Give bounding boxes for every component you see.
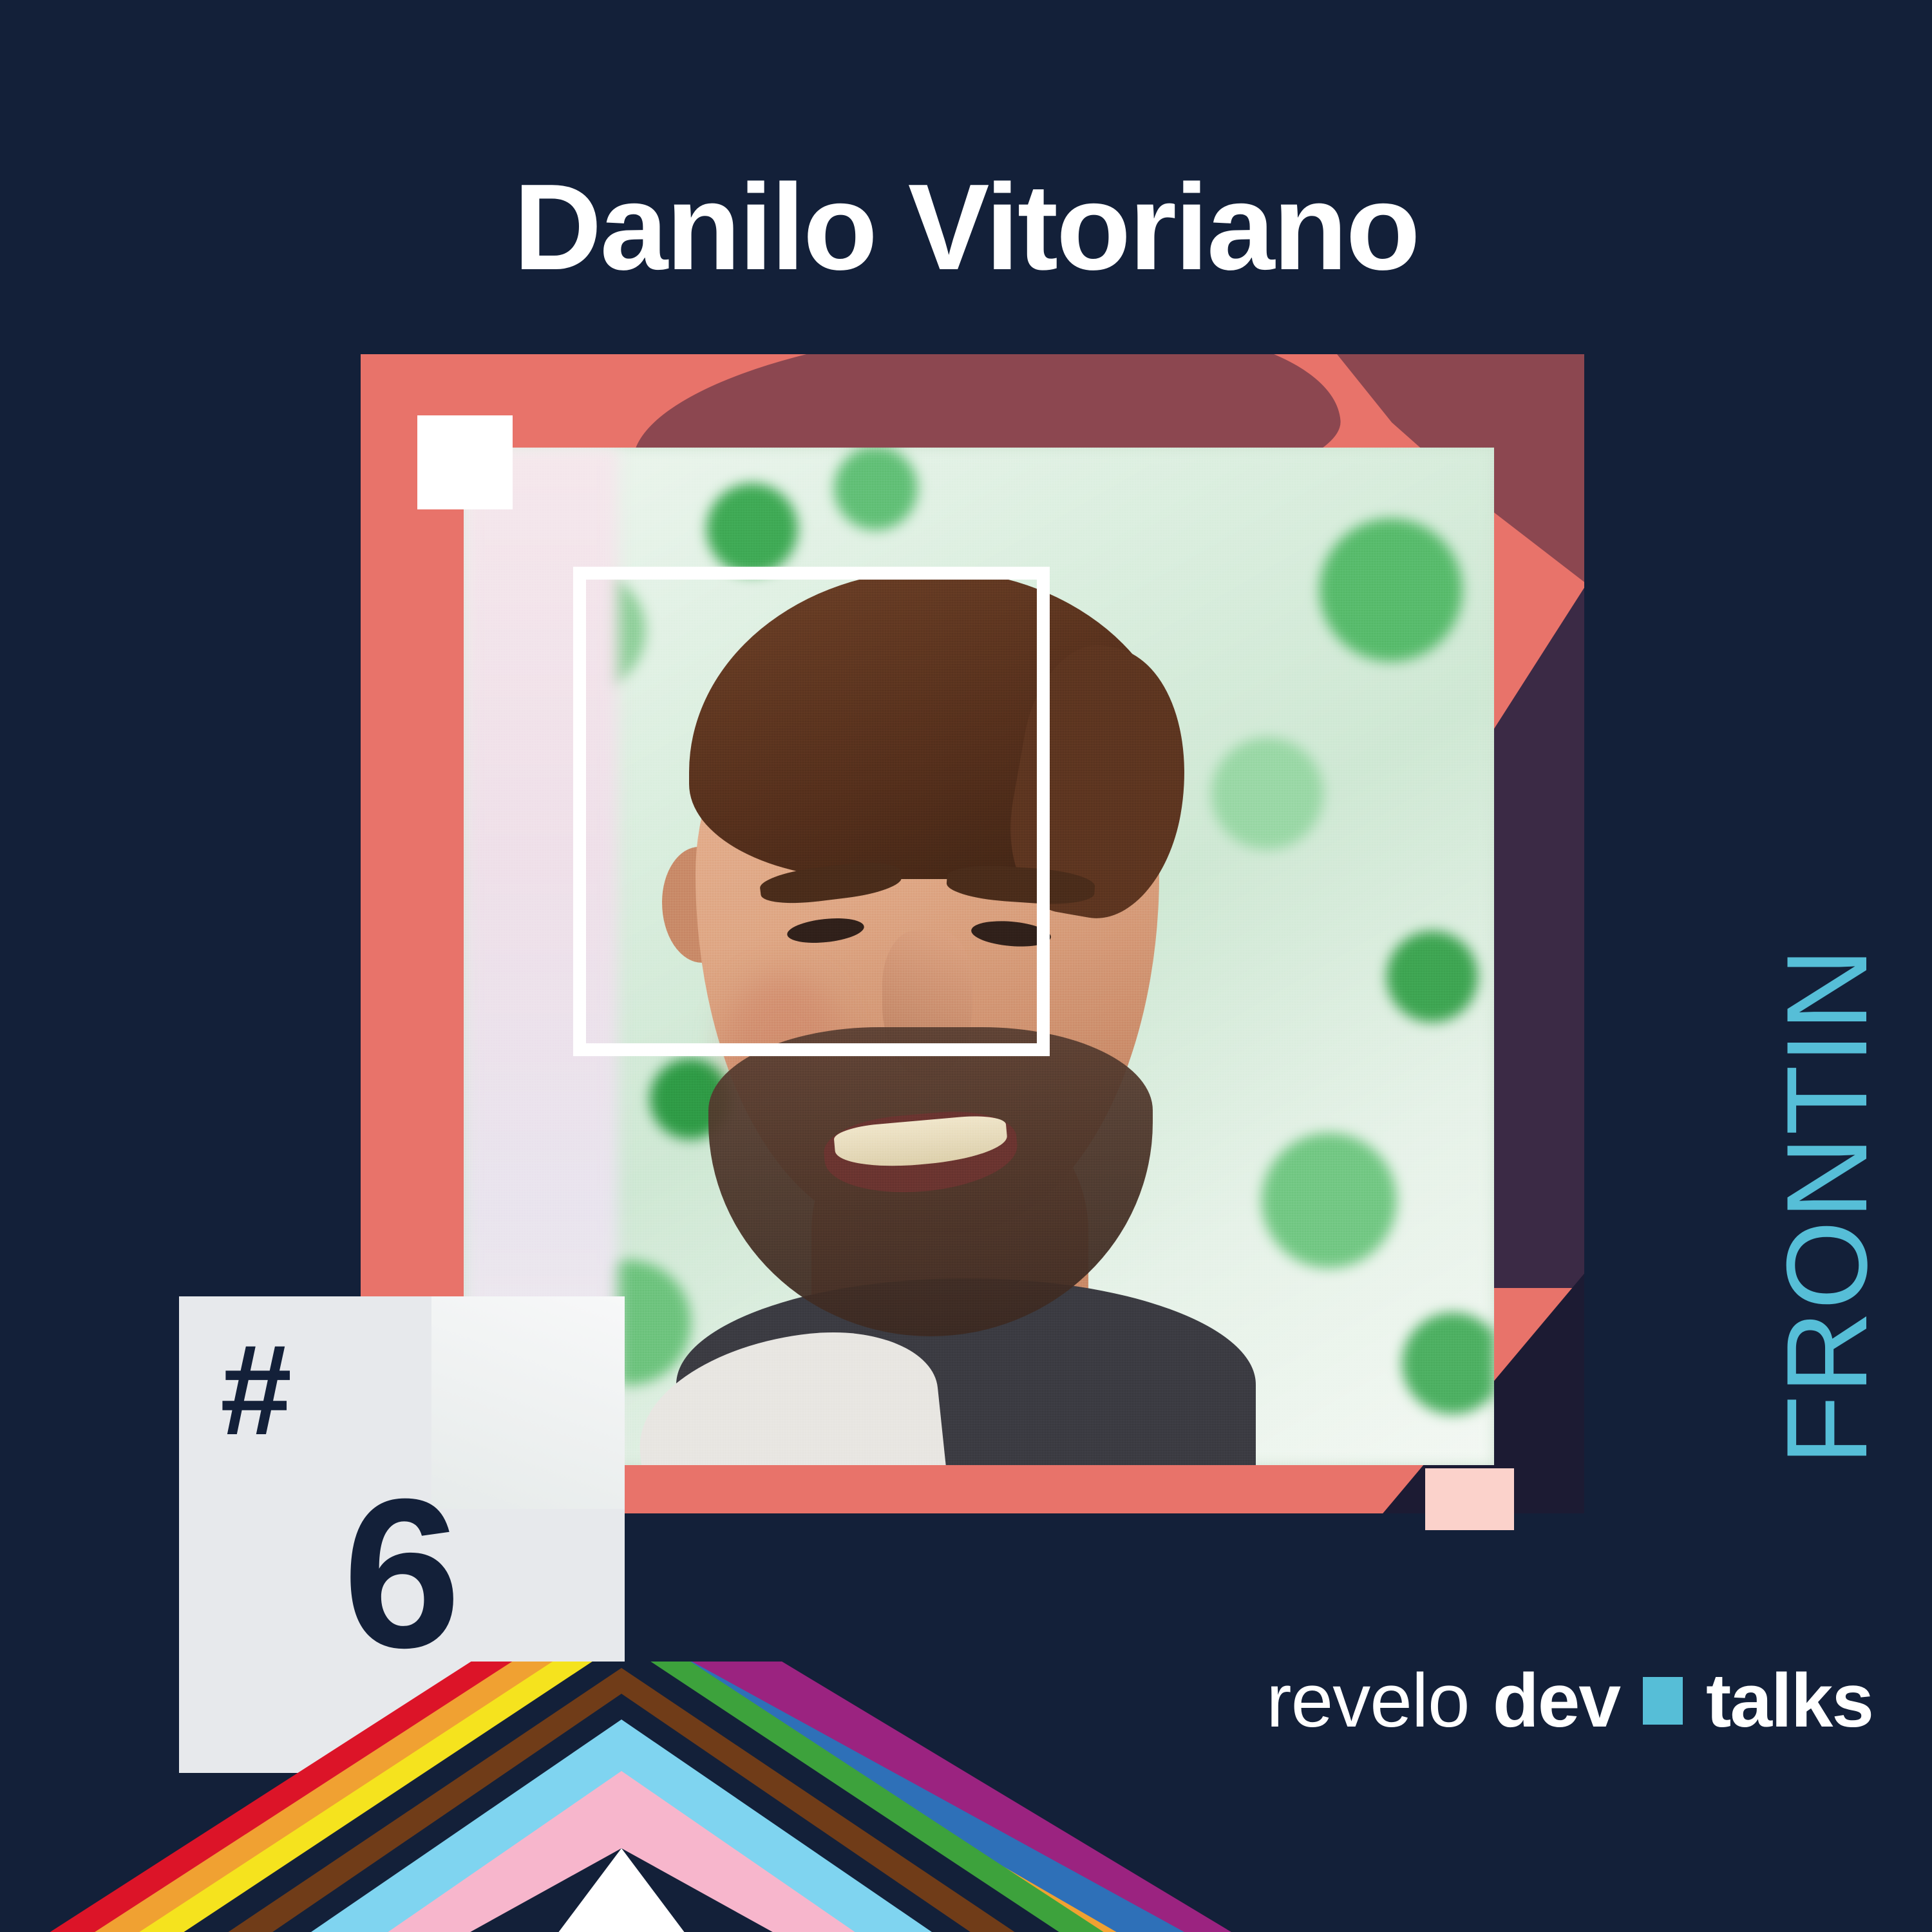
white-photo-frame	[573, 567, 1050, 1056]
logo-word-dev: dev	[1493, 1663, 1620, 1739]
brand-logo: revelo dev talks	[1266, 1663, 1873, 1739]
logo-word-talks: talks	[1706, 1663, 1873, 1739]
poster-canvas: Danilo Vitoriano	[0, 0, 1932, 1932]
logo-word-revelo: revelo	[1266, 1663, 1469, 1739]
logo-square-icon	[1643, 1677, 1683, 1725]
hash-symbol: #	[220, 1326, 292, 1455]
page-title: Danilo Vitoriano	[0, 166, 1932, 289]
pink-square	[1425, 1468, 1514, 1530]
progress-pride-chevron	[0, 1662, 1243, 1932]
track-label: FRONTIN	[1770, 947, 1884, 1465]
episode-number: 6	[179, 1467, 625, 1680]
white-square	[417, 415, 513, 509]
